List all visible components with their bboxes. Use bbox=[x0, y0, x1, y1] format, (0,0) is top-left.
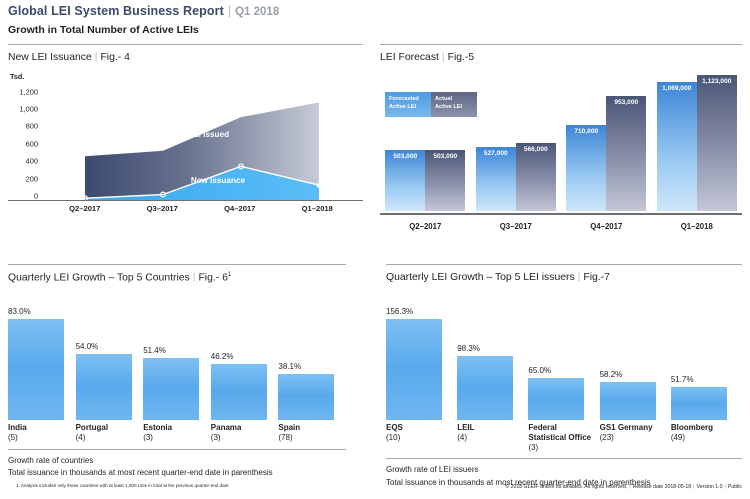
category-subvalue: (49) bbox=[671, 433, 742, 443]
bar-column: 58.2% bbox=[600, 292, 671, 420]
bar-actual-active-lei: 566,000 bbox=[516, 143, 556, 211]
chart-panel-new-lei-issuance: New LEI Issuance|Fig.- 4 Tsd. 1,2001,000… bbox=[8, 44, 363, 211]
chart-title-fig5: LEI Forecast|Fig.-5 bbox=[380, 52, 742, 63]
caption-line-1: Growth rate of countries bbox=[8, 455, 346, 467]
fig6-columns: 83.0%54.0%51.4%46.2%38.1% bbox=[8, 292, 346, 420]
category-label: Estonia(3) bbox=[143, 423, 211, 443]
x-tick-label: Q3–2017 bbox=[471, 222, 562, 231]
category-subvalue: (4) bbox=[457, 433, 528, 443]
bar-value-label: 58.2% bbox=[600, 370, 623, 379]
bar-value-label: 51.7% bbox=[671, 375, 694, 384]
x-tick-label: Q3–2017 bbox=[124, 204, 202, 213]
chart-title-fig4: New LEI Issuance|Fig.- 4 bbox=[8, 52, 363, 63]
bar bbox=[528, 378, 584, 420]
page-copyright: © 2018 GLEIF and/or its affiliates. All … bbox=[505, 484, 742, 490]
bar-value-label: 503,000 bbox=[425, 153, 465, 160]
bar-actual-active-lei: 953,000 bbox=[606, 96, 646, 211]
bar-column: 38.1% bbox=[278, 292, 346, 420]
chart-title-fig7: Quarterly LEI Growth – Top 5 LEI issuers… bbox=[386, 272, 742, 283]
y-tick-label: 400 bbox=[26, 157, 38, 166]
fig6-caption: Growth rate of countries Total issuance … bbox=[8, 455, 346, 480]
chart-figure-number: Fig.- 6 bbox=[198, 272, 227, 283]
bar bbox=[76, 354, 132, 420]
version: Version 1.0 bbox=[697, 484, 723, 490]
figure-footnote-marker: 1 bbox=[228, 272, 231, 278]
bar-group: 710,000953,000 bbox=[561, 66, 652, 211]
category-subvalue: (4) bbox=[76, 433, 144, 443]
chart-panel-top5-issuers: Quarterly LEI Growth – Top 5 LEI issuers… bbox=[386, 264, 742, 489]
panel-divider bbox=[8, 44, 363, 45]
bar-value-label: 46.2% bbox=[211, 352, 234, 361]
fig5-bar-groups: 503,000503,000527,000566,000710,000953,0… bbox=[380, 66, 742, 211]
category-name: Estonia bbox=[143, 423, 211, 433]
bar-value-label: 98.3% bbox=[457, 344, 480, 353]
bar-value-label: 503,000 bbox=[385, 153, 425, 160]
title-separator: | bbox=[224, 4, 235, 18]
bar-column: 51.7% bbox=[671, 292, 742, 420]
bar-column: 54.0% bbox=[76, 292, 144, 420]
chart-title-text: New LEI Issuance bbox=[8, 52, 92, 63]
category-label: Spain(78) bbox=[278, 423, 346, 443]
category-name: India bbox=[8, 423, 76, 433]
y-tick-label: 1,200 bbox=[20, 87, 39, 96]
fig7-plot-area: 156.3%98.3%65.0%58.2%51.7% bbox=[386, 292, 742, 420]
fig6-category-labels: India(5)Portugal(4)Estonia(3)Panama(3)Sp… bbox=[8, 423, 346, 443]
chart-title-text: Quarterly LEI Growth – Top 5 Countries bbox=[8, 272, 190, 283]
classification: Public bbox=[728, 484, 742, 490]
page-title: Global LEI System Business Report bbox=[8, 4, 224, 18]
category-name: Panama bbox=[211, 423, 279, 433]
data-point bbox=[317, 183, 321, 187]
chart-panel-lei-forecast: LEI Forecast|Fig.-5 Forecasted Active LE… bbox=[380, 44, 742, 231]
bar-column: 46.2% bbox=[211, 292, 279, 420]
y-tick-label: 200 bbox=[26, 174, 38, 183]
bar bbox=[278, 374, 334, 421]
bar-forecasted-active-lei: 710,000 bbox=[566, 125, 606, 211]
chart-title-fig6: Quarterly LEI Growth – Top 5 Countries|F… bbox=[8, 272, 346, 283]
category-name: EQS bbox=[386, 423, 457, 433]
caption-divider bbox=[8, 449, 346, 450]
x-axis-labels: Q2–2017Q3–2017Q4–2017Q1–2018 bbox=[46, 204, 356, 213]
category-label: Bloomberg(49) bbox=[671, 423, 742, 453]
category-subvalue: (23) bbox=[600, 433, 671, 443]
bar-actual-active-lei: 503,000 bbox=[425, 150, 465, 211]
bar-value-label: 156.3% bbox=[386, 307, 413, 316]
x-tick-label: Q4–2017 bbox=[201, 204, 279, 213]
panel-divider bbox=[386, 264, 742, 265]
x-axis-line bbox=[8, 200, 363, 201]
page-footnote: 1. Analysis includes only those countrie… bbox=[16, 483, 228, 488]
category-label: India(5) bbox=[8, 423, 76, 443]
bar-column: 83.0% bbox=[8, 292, 76, 420]
bar bbox=[671, 387, 727, 420]
bar-column: 156.3% bbox=[386, 292, 457, 420]
panel-divider bbox=[8, 264, 346, 265]
series-label-total-lei-issued: Total LEI issued bbox=[167, 130, 229, 139]
bar-group: 527,000566,000 bbox=[471, 66, 562, 211]
category-subvalue: (5) bbox=[8, 433, 76, 443]
chart-figure-number: Fig.-5 bbox=[448, 52, 475, 63]
category-subvalue: (3) bbox=[143, 433, 211, 443]
fig5-plot-area: Forecasted Active LEI Actual Active LEI … bbox=[380, 66, 742, 231]
panel-divider bbox=[380, 44, 742, 45]
bar-forecasted-active-lei: 503,000 bbox=[385, 150, 425, 211]
release-date: Release date 2018-05-18 bbox=[633, 484, 692, 490]
category-label: EQS(10) bbox=[386, 423, 457, 453]
y-axis-unit-label: Tsd. bbox=[10, 72, 363, 81]
bar-column: 51.4% bbox=[143, 292, 211, 420]
x-tick-label: Q2–2017 bbox=[380, 222, 471, 231]
category-label: GS1 Germany(23) bbox=[600, 423, 671, 453]
category-label: Portugal(4) bbox=[76, 423, 144, 443]
fig4-area-svg: Total LEI issued New issuance bbox=[46, 83, 358, 201]
x-axis-line bbox=[380, 213, 742, 215]
bar-value-label: 1,123,000 bbox=[697, 78, 737, 85]
category-name: Portugal bbox=[76, 423, 144, 433]
category-name: Bloomberg bbox=[671, 423, 742, 433]
y-axis-ticks: 1,2001,0008006004002000 bbox=[8, 83, 46, 196]
category-label: LEIL(4) bbox=[457, 423, 528, 453]
fig7-category-labels: EQS(10)LEIL(4)FederalStatistical Office(… bbox=[386, 423, 742, 453]
bar bbox=[457, 356, 513, 420]
report-page: Global LEI System Business Report|Q1 201… bbox=[0, 0, 750, 499]
copyright-text: © 2018 GLEIF and/or its affiliates. All … bbox=[505, 484, 627, 490]
bar bbox=[143, 358, 199, 421]
bar-column: 98.3% bbox=[457, 292, 528, 420]
bar-value-label: 83.0% bbox=[8, 307, 31, 316]
x-tick-label: Q1–2018 bbox=[652, 222, 743, 231]
category-subvalue: (10) bbox=[386, 433, 457, 443]
category-subvalue: (78) bbox=[278, 433, 346, 443]
category-name: Spain bbox=[278, 423, 346, 433]
bar-value-label: 1,069,000 bbox=[657, 85, 697, 92]
bar-value-label: 710,000 bbox=[566, 128, 606, 135]
bar bbox=[600, 382, 656, 420]
category-name: GS1 Germany bbox=[600, 423, 671, 433]
category-label: FederalStatistical Office(3) bbox=[528, 423, 599, 453]
category-subvalue: (3) bbox=[211, 433, 279, 443]
report-quarter: Q1 2018 bbox=[235, 6, 279, 18]
bar-group: 1,069,0001,123,000 bbox=[652, 66, 743, 211]
y-tick-label: 1,000 bbox=[20, 105, 39, 114]
series-label-new-issuance: New issuance bbox=[191, 176, 246, 185]
chart-title-text: Quarterly LEI Growth – Top 5 LEI issuers bbox=[386, 272, 575, 283]
category-name: LEIL bbox=[457, 423, 528, 433]
fig7-columns: 156.3%98.3%65.0%58.2%51.7% bbox=[386, 292, 742, 420]
bar-actual-active-lei: 1,123,000 bbox=[697, 75, 737, 211]
bar-value-label: 953,000 bbox=[606, 99, 646, 106]
category-name: Federal bbox=[528, 423, 599, 433]
y-tick-label: 600 bbox=[26, 139, 38, 148]
bar-value-label: 527,000 bbox=[476, 150, 516, 157]
bar-value-label: 65.0% bbox=[528, 366, 551, 375]
chart-title-text: LEI Forecast bbox=[380, 52, 439, 63]
bar-forecasted-active-lei: 1,069,000 bbox=[657, 82, 697, 211]
caption-divider bbox=[386, 458, 742, 459]
bar-value-label: 51.4% bbox=[143, 346, 166, 355]
section-subtitle: Growth in Total Number of Active LEIs bbox=[8, 24, 199, 36]
bar bbox=[8, 319, 64, 420]
bar-value-label: 38.1% bbox=[278, 362, 301, 371]
category-label: Panama(3) bbox=[211, 423, 279, 443]
bar-column: 65.0% bbox=[528, 292, 599, 420]
report-header: Global LEI System Business Report|Q1 201… bbox=[8, 2, 279, 20]
category-subvalue: (3) bbox=[528, 443, 599, 453]
caption-line-1: Growth rate of LEI issuers bbox=[386, 464, 742, 476]
fig6-plot-area: 83.0%54.0%51.4%46.2%38.1% bbox=[8, 292, 346, 420]
category-name: Statistical Office bbox=[528, 433, 599, 443]
chart-figure-number: Fig.-7 bbox=[583, 272, 610, 283]
fig4-plot-area: 1,2001,0008006004002000 bbox=[8, 83, 363, 211]
bar-group: 503,000503,000 bbox=[380, 66, 471, 211]
x-tick-label: Q1–2018 bbox=[279, 204, 357, 213]
caption-line-2: Total issuance in thousands at most rece… bbox=[8, 467, 346, 479]
x-axis-labels: Q2–2017Q3–2017Q4–2017Q1–2018 bbox=[380, 222, 742, 231]
bar bbox=[211, 364, 267, 420]
bar-forecasted-active-lei: 527,000 bbox=[476, 147, 516, 211]
bar-value-label: 566,000 bbox=[516, 146, 556, 153]
chart-panel-top5-countries: Quarterly LEI Growth – Top 5 Countries|F… bbox=[8, 264, 346, 480]
x-tick-label: Q2–2017 bbox=[46, 204, 124, 213]
bar-value-label: 54.0% bbox=[76, 342, 99, 351]
bar bbox=[386, 319, 442, 420]
chart-figure-number: Fig.- 4 bbox=[100, 52, 129, 63]
y-tick-label: 800 bbox=[26, 122, 38, 131]
x-tick-label: Q4–2017 bbox=[561, 222, 652, 231]
